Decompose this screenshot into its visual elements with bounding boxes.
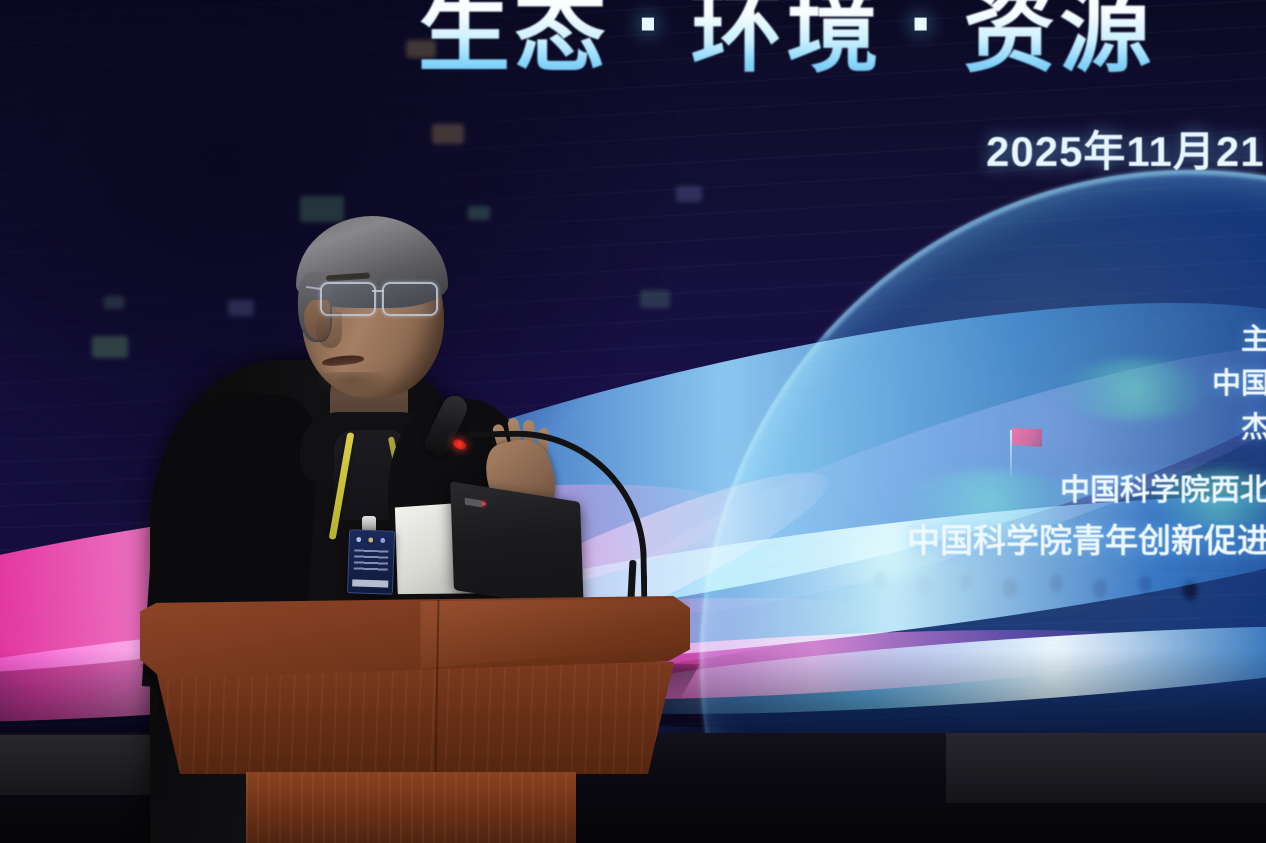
lectern-wood-grain bbox=[154, 662, 674, 774]
badge-name-field bbox=[352, 579, 388, 587]
glasses-lens-left bbox=[320, 282, 376, 316]
screenshot-root: 生态 · 环境 · 资源 2025年11月21 主 中国 杰 中国科学院西北 中… bbox=[0, 0, 1266, 843]
conference-badge bbox=[347, 529, 395, 595]
lectern-base-grain bbox=[246, 772, 576, 843]
presenter-nose bbox=[316, 312, 342, 348]
glasses-bridge bbox=[372, 290, 384, 292]
chin-shadow bbox=[318, 372, 402, 398]
glasses-icon bbox=[320, 282, 442, 314]
glasses-lens-right bbox=[382, 282, 438, 316]
badge-text-lines bbox=[354, 549, 389, 572]
badge-logo-icon bbox=[354, 535, 390, 545]
